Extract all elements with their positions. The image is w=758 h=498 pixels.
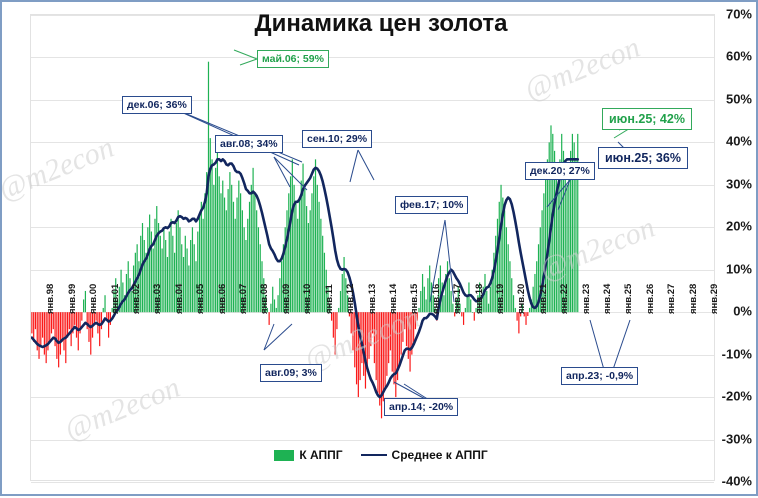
bar [104, 295, 105, 312]
x-axis-tick: янв.09 [281, 284, 292, 314]
bar [63, 312, 64, 350]
legend-label-line: Среднее к АППГ [392, 448, 488, 462]
bar [49, 312, 50, 342]
bar [427, 278, 428, 312]
x-axis-tick: янв.16 [431, 284, 442, 314]
bar [315, 159, 316, 312]
x-axis-tick: янв.19 [495, 284, 506, 314]
bar [351, 312, 352, 333]
chart-title: Динамика цен золота [2, 10, 758, 38]
bar [447, 261, 448, 312]
bar [422, 274, 423, 312]
x-axis-tick: янв.01 [110, 284, 121, 314]
y-axis-tick: -30% [722, 431, 752, 446]
bar [409, 312, 410, 371]
legend-item-bar: К АППГ [274, 448, 342, 462]
x-axis-tick: янв.13 [367, 284, 378, 314]
callout-feb17: фев.17; 10% [395, 196, 468, 214]
bar [256, 210, 257, 312]
x-axis-tick: янв.22 [559, 284, 570, 314]
x-axis-tick: янв.10 [302, 284, 313, 314]
x-axis-tick: янв.06 [217, 284, 228, 314]
bar [320, 219, 321, 312]
y-axis-tick: 60% [726, 49, 752, 64]
bar [51, 312, 52, 333]
bar [254, 193, 255, 312]
x-axis-tick: янв.24 [602, 284, 613, 314]
gold-price-chart: @m2econ @m2econ @m2econ @m2econ @m2econ … [0, 0, 758, 496]
x-axis-tick: янв.26 [645, 284, 656, 314]
bar [313, 176, 314, 312]
gridline [31, 482, 714, 483]
bar [490, 287, 491, 312]
x-axis-tick: янв.21 [538, 284, 549, 314]
bar [335, 312, 336, 354]
bar [511, 278, 512, 312]
callout-dec06: дек.06; 36% [122, 96, 192, 114]
bar [46, 312, 47, 363]
bar [317, 185, 318, 312]
bar [31, 312, 32, 333]
bar [383, 312, 384, 401]
bar [342, 274, 343, 312]
bar [527, 312, 528, 316]
callout-jun25-avg: июн.25; 36% [598, 147, 688, 169]
bar [352, 312, 353, 350]
y-axis-tick: 30% [726, 176, 752, 191]
bar [103, 308, 104, 312]
bar [365, 312, 366, 388]
callout-may06: май.06; 59% [257, 50, 329, 68]
bar [385, 312, 386, 388]
callout-apr14: апр.14; -20% [384, 398, 458, 416]
legend: К АППГ Среднее к АППГ [2, 448, 758, 462]
x-axis-tick: янв.98 [45, 284, 56, 314]
bar [508, 244, 509, 312]
bar [377, 312, 378, 393]
bar [170, 219, 171, 312]
bar [488, 304, 489, 312]
x-axis-tick: янв.20 [516, 284, 527, 314]
x-axis-tick: янв.25 [623, 284, 634, 314]
bar [149, 215, 150, 313]
bar [35, 312, 36, 329]
bar [229, 172, 230, 312]
bar [277, 295, 278, 312]
bar [333, 312, 334, 337]
x-axis-tick: янв.00 [88, 284, 99, 314]
y-axis-tick: -40% [722, 474, 752, 489]
bar [518, 312, 519, 333]
bar [128, 261, 129, 312]
bar [108, 312, 109, 337]
bar [269, 312, 270, 325]
bar [272, 287, 273, 312]
bar [392, 312, 393, 371]
y-axis-tick: -20% [722, 389, 752, 404]
bar [340, 291, 341, 312]
x-axis-tick: янв.12 [345, 284, 356, 314]
bar [85, 291, 86, 312]
bar [529, 308, 530, 312]
bar [336, 312, 337, 329]
legend-bar-swatch-icon [274, 450, 294, 461]
bar [368, 312, 369, 359]
bar [62, 312, 63, 342]
bar [299, 198, 300, 313]
bar [147, 227, 148, 312]
bar [233, 202, 234, 312]
bar [213, 185, 214, 312]
bar [81, 312, 82, 320]
bar [231, 185, 232, 312]
bar [190, 240, 191, 312]
bar [465, 308, 466, 312]
bar [388, 312, 389, 363]
bar [401, 312, 402, 354]
bar [379, 312, 380, 405]
callout-apr23: апр.23; -0,9% [561, 367, 638, 385]
x-axis-tick: янв.05 [195, 284, 206, 314]
y-axis-tick: 20% [726, 219, 752, 234]
bar [249, 202, 250, 312]
bar [192, 227, 193, 312]
bar [467, 295, 468, 312]
bar [413, 312, 414, 342]
bar [56, 312, 57, 359]
bar [370, 312, 371, 346]
bar [40, 312, 41, 346]
bar [395, 312, 396, 397]
bar [99, 312, 100, 346]
bar [42, 312, 43, 337]
x-axis-tick: янв.17 [452, 284, 463, 314]
bar [210, 138, 211, 312]
bar [486, 291, 487, 312]
bar [211, 159, 212, 312]
callout-dec20: дек.20; 27% [525, 162, 595, 180]
callout-jun25-bar: июн.25; 42% [602, 108, 692, 130]
callout-aug08: авг.08; 34% [215, 135, 283, 153]
bar [415, 312, 416, 329]
bar [513, 295, 514, 312]
legend-line-swatch-icon [361, 454, 387, 456]
bar [424, 287, 425, 312]
bar [165, 240, 166, 312]
bar [472, 312, 473, 313]
x-axis-tick: янв.27 [666, 284, 677, 314]
bar [468, 282, 469, 312]
bar [390, 312, 391, 350]
x-axis-tick: янв.03 [152, 284, 163, 314]
bar [58, 312, 59, 367]
bar [575, 159, 576, 312]
legend-label-bar: К АППГ [299, 448, 342, 462]
x-axis-tick: янв.18 [474, 284, 485, 314]
bar [374, 312, 375, 363]
bar [163, 227, 164, 312]
bar [145, 253, 146, 312]
bar [60, 312, 61, 354]
bar [408, 312, 409, 359]
bar [420, 291, 421, 312]
bar [399, 312, 400, 367]
bar [354, 312, 355, 367]
legend-item-line: Среднее к АППГ [361, 448, 488, 462]
x-axis-tick: янв.15 [409, 284, 420, 314]
y-axis-tick: 10% [726, 261, 752, 276]
bar [426, 299, 427, 312]
bar [167, 257, 168, 312]
bar [169, 232, 170, 313]
x-axis-tick: янв.02 [131, 284, 142, 314]
bar [386, 312, 387, 376]
bar [270, 304, 271, 312]
bar [274, 299, 275, 312]
bar [69, 312, 70, 329]
y-axis-tick: 40% [726, 134, 752, 149]
bar [372, 312, 373, 333]
x-axis-tick: янв.14 [388, 284, 399, 314]
bar [122, 282, 123, 312]
bar [404, 312, 405, 329]
bar [186, 249, 187, 313]
series-canvas [31, 15, 716, 482]
bar [252, 168, 253, 312]
bar [406, 312, 407, 346]
x-axis-tick: янв.04 [174, 284, 185, 314]
bar [470, 299, 471, 312]
bar [318, 202, 319, 312]
x-axis-tick: янв.23 [581, 284, 592, 314]
bar [144, 240, 145, 312]
plot-area [30, 14, 715, 481]
bar [525, 312, 526, 325]
y-axis-tick: -10% [722, 346, 752, 361]
bar [297, 219, 298, 312]
bar [251, 185, 252, 312]
x-axis-tick: янв.99 [67, 284, 78, 314]
bar [360, 312, 361, 380]
bar [402, 312, 403, 342]
x-axis-tick: янв.28 [688, 284, 699, 314]
bar [101, 312, 102, 329]
bar [443, 295, 444, 312]
callout-sep10: сен.10; 29% [302, 130, 372, 148]
x-axis-tick: янв.07 [238, 284, 249, 314]
bar [338, 308, 339, 312]
bar [87, 312, 88, 329]
bar [90, 312, 91, 354]
bar [38, 312, 39, 359]
bar [509, 261, 510, 312]
bar [463, 312, 464, 325]
x-axis-tick: янв.08 [259, 284, 270, 314]
bar [376, 312, 377, 380]
callout-aug09: авг.09; 3% [260, 364, 322, 382]
x-axis-tick: янв.11 [324, 284, 335, 314]
y-axis-tick: 0% [733, 304, 752, 319]
bar [53, 312, 54, 329]
y-axis-tick: 50% [726, 91, 752, 106]
bar [381, 312, 382, 418]
bar [295, 202, 296, 312]
bar [74, 312, 75, 325]
bar [276, 308, 277, 312]
bar [188, 265, 189, 312]
bar [76, 312, 77, 337]
bar [235, 219, 236, 312]
bar [83, 299, 84, 312]
x-axis-tick: янв.29 [709, 284, 720, 314]
bar [449, 278, 450, 312]
bar [44, 312, 45, 354]
